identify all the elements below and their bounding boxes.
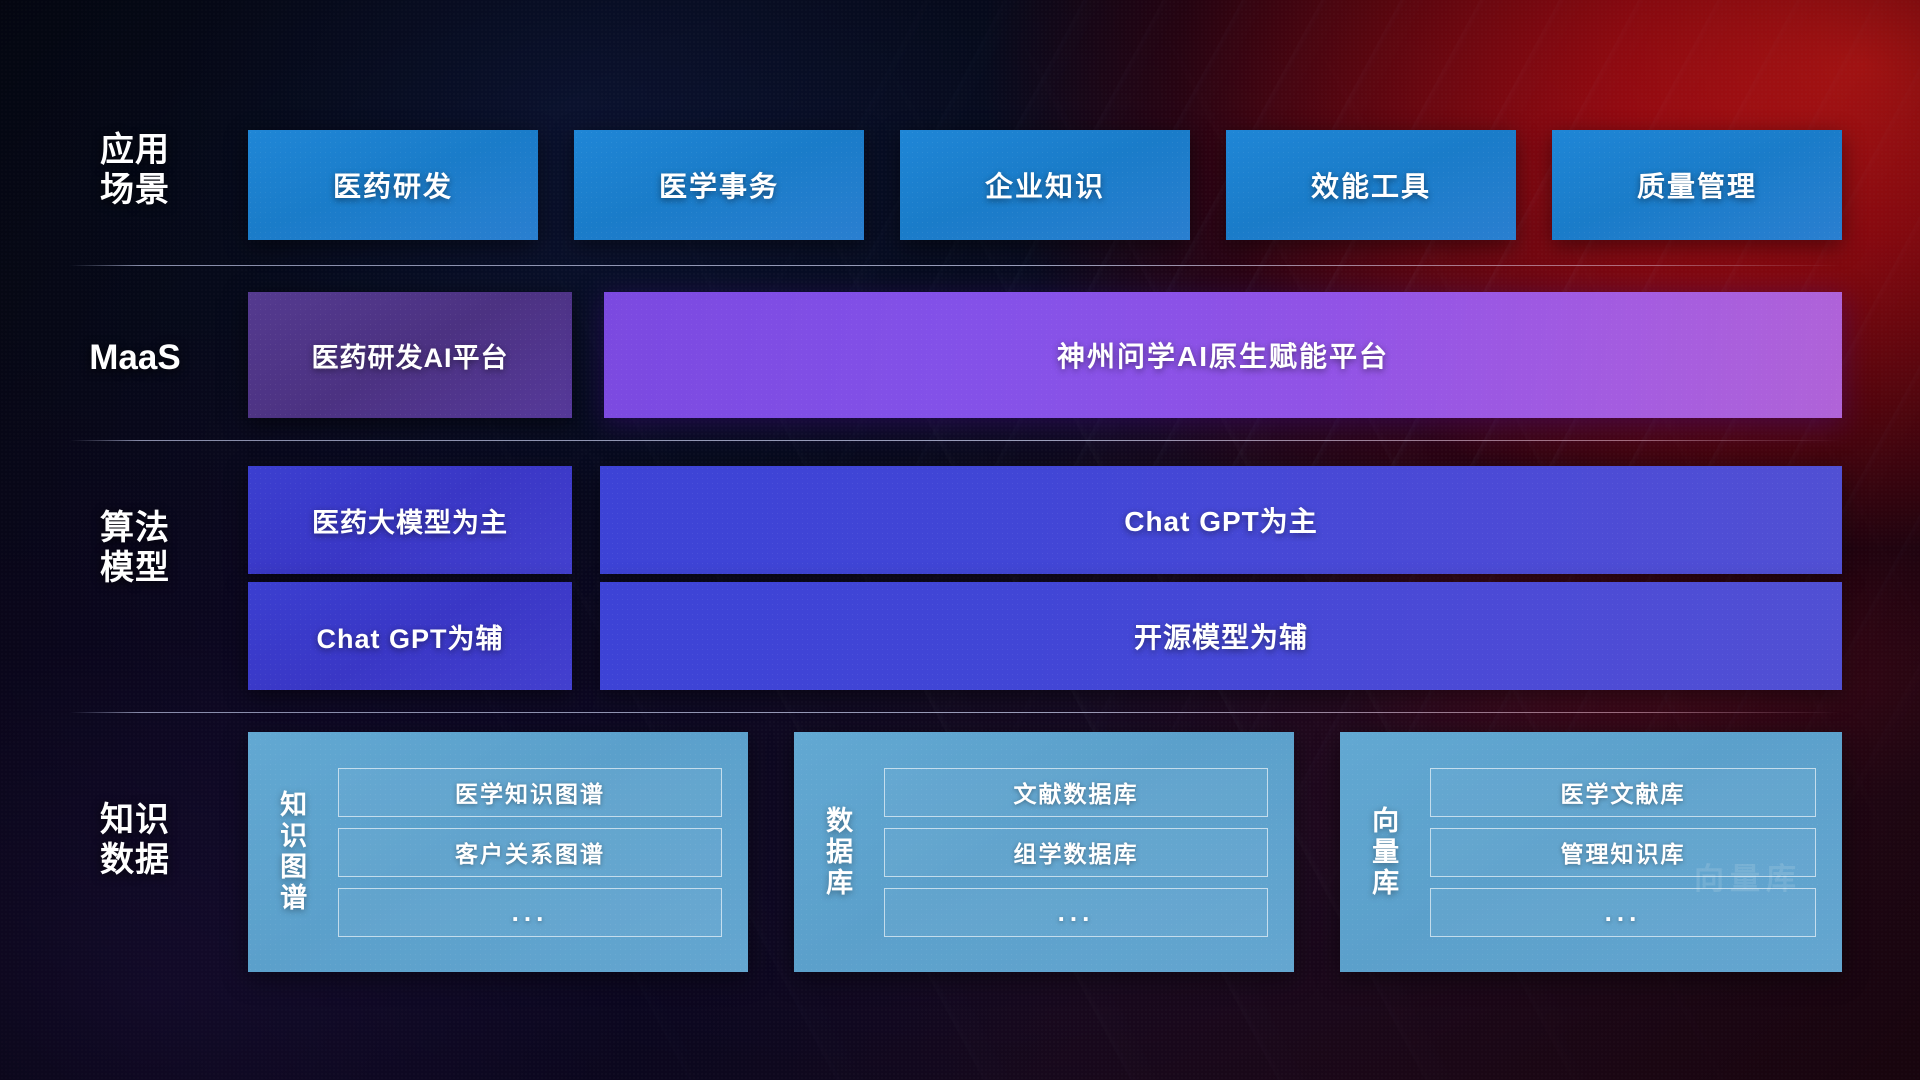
row-label-line: 知识 — [70, 800, 200, 840]
algo-card-medicine-llm-primary[interactable]: 医药大模型为主 — [248, 466, 572, 574]
knowledge-item[interactable]: 文献数据库 — [884, 768, 1268, 817]
knowledge-item[interactable]: 医学知识图谱 — [338, 768, 722, 817]
knowledge-panel-vector-store[interactable]: 向量库 医学文献库 管理知识库 ... 向量库 — [1340, 732, 1842, 972]
app-card-label: 企业知识 — [985, 165, 1105, 205]
app-card-enterprise-knowledge[interactable]: 企业知识 — [900, 130, 1190, 240]
knowledge-panel-knowledge-graph[interactable]: 知识图谱 医学知识图谱 客户关系图谱 ... — [248, 732, 748, 972]
app-card-quality-management[interactable]: 质量管理 — [1552, 130, 1842, 240]
knowledge-panel-label: 向量库 — [1340, 732, 1426, 972]
app-card-medicine-rd[interactable]: 医药研发 — [248, 130, 538, 240]
knowledge-item[interactable]: 管理知识库 — [1430, 828, 1816, 877]
maas-card-medicine-ai-platform[interactable]: 医药研发AI平台 — [248, 292, 572, 418]
row-label-line: 模型 — [70, 548, 200, 588]
row-label-application-scenario: 应用 场景 — [70, 130, 200, 210]
row-label-algorithm-model: 算法 模型 — [70, 508, 200, 588]
knowledge-item-list: 医学文献库 管理知识库 ... — [1426, 732, 1842, 972]
row-label-knowledge-data: 知识 数据 — [70, 800, 200, 880]
knowledge-panel-label: 知识图谱 — [248, 732, 334, 972]
algo-card-label: Chat GPT为主 — [1124, 500, 1318, 540]
knowledge-item-list: 医学知识图谱 客户关系图谱 ... — [334, 732, 748, 972]
knowledge-item-more[interactable]: ... — [1430, 888, 1816, 937]
row-label-maas: MaaS — [70, 337, 200, 378]
row-label-line: 算法 — [70, 508, 200, 548]
knowledge-item[interactable]: 客户关系图谱 — [338, 828, 722, 877]
divider-algorithm-knowledge — [70, 712, 1842, 713]
knowledge-item[interactable]: 组学数据库 — [884, 828, 1268, 877]
knowledge-item[interactable]: 医学文献库 — [1430, 768, 1816, 817]
knowledge-item-more[interactable]: ... — [338, 888, 722, 937]
maas-card-label: 医药研发AI平台 — [312, 336, 509, 375]
app-card-label: 质量管理 — [1637, 165, 1757, 205]
row-label-line: 应用 — [70, 130, 200, 170]
algo-card-chatgpt-secondary[interactable]: Chat GPT为辅 — [248, 582, 572, 690]
algo-card-open-source-secondary[interactable]: 开源模型为辅 — [600, 582, 1842, 690]
app-card-label: 医药研发 — [333, 165, 453, 205]
algo-card-label: Chat GPT为辅 — [316, 617, 503, 656]
divider-application-maas — [70, 265, 1842, 266]
knowledge-item-more[interactable]: ... — [884, 888, 1268, 937]
algo-card-label: 医药大模型为主 — [312, 501, 508, 540]
knowledge-panel-database[interactable]: 数据库 文献数据库 组学数据库 ... — [794, 732, 1294, 972]
maas-card-shenzhou-wenxue-platform[interactable]: 神州问学AI原生赋能平台 — [604, 292, 1842, 418]
app-card-medical-affairs[interactable]: 医学事务 — [574, 130, 864, 240]
maas-card-label: 神州问学AI原生赋能平台 — [1057, 335, 1389, 375]
knowledge-item-list: 文献数据库 组学数据库 ... — [880, 732, 1294, 972]
row-label-line: MaaS — [70, 337, 200, 378]
app-card-label: 医学事务 — [659, 165, 779, 205]
architecture-diagram: 应用 场景 医药研发 医学事务 企业知识 效能工具 质量管理 MaaS — [0, 0, 1920, 1080]
algo-card-label: 开源模型为辅 — [1134, 616, 1308, 656]
app-card-efficiency-tools[interactable]: 效能工具 — [1226, 130, 1516, 240]
row-label-line: 场景 — [70, 170, 200, 210]
row-label-line: 数据 — [70, 840, 200, 880]
app-card-label: 效能工具 — [1311, 165, 1431, 205]
divider-maas-algorithm — [70, 440, 1842, 441]
algo-card-chatgpt-primary[interactable]: Chat GPT为主 — [600, 466, 1842, 574]
knowledge-panel-label: 数据库 — [794, 732, 880, 972]
